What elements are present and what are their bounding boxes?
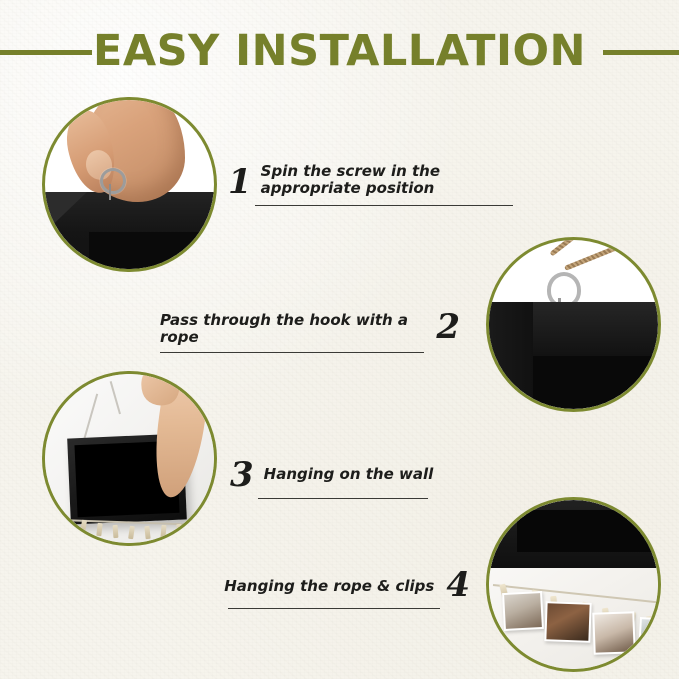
frame-inner-recess: [89, 232, 214, 269]
eye-hook-pin: [109, 184, 111, 200]
step-3-underline: [258, 498, 428, 499]
step-2-underline: [160, 352, 424, 353]
frame-side-wall: [489, 302, 533, 409]
hanging-photo: [502, 591, 544, 631]
step-1-text: Spin the screw in the appropriate positi…: [261, 163, 528, 197]
step-4-underline: [228, 608, 440, 609]
infographic-page: EASY INSTALLATION 1 Spin the screw in th…: [0, 0, 679, 679]
frame-bevel-icon: [489, 500, 517, 532]
step-3-number: 3: [230, 458, 254, 492]
step-3-text: Hanging on the wall: [264, 466, 434, 483]
step-2-text: Pass through the hook with a rope: [160, 312, 426, 346]
photo-thumbnail: [640, 619, 658, 653]
step-4-caption: Hanging the rope & clips 4: [220, 572, 470, 609]
page-title: EASY INSTALLATION: [0, 25, 679, 77]
frame-inner-recess: [517, 510, 658, 552]
step-1-photo-circle: [42, 97, 217, 272]
clothespin-clip: [113, 525, 119, 538]
frame-inner-recess: [533, 356, 658, 409]
step-2-caption: Pass through the hook with a rope 2: [160, 312, 460, 353]
step-1-number: 1: [228, 165, 252, 199]
step-4-photo-circle: [486, 497, 661, 672]
step-2-number: 2: [436, 310, 460, 344]
step-3-caption: 3 Hanging on the wall: [230, 458, 480, 499]
hanging-photo: [638, 617, 658, 655]
photo-thumbnail: [546, 603, 589, 640]
rope-strand-upper: [549, 240, 590, 256]
step-1-underline: [255, 205, 513, 206]
step-4-number: 4: [446, 568, 470, 602]
photo-thumbnail: [594, 613, 633, 652]
photo-thumbnail: [504, 593, 542, 629]
step-2-photo-circle: [486, 237, 661, 412]
hanging-photo: [592, 611, 635, 654]
step-4-image: [489, 500, 658, 669]
step-2-image: [489, 240, 658, 409]
step-4-text: Hanging the rope & clips: [224, 578, 434, 595]
eye-hook-ring-icon: [100, 168, 126, 194]
hanging-photo: [544, 601, 591, 643]
step-1-image: [45, 100, 214, 269]
step-3-photo-circle: [42, 371, 217, 546]
frame-bevel-icon: [45, 192, 87, 238]
step-3-image: [45, 374, 214, 543]
decorative-rule-right-icon: [603, 50, 679, 55]
rope-strand-lower: [564, 240, 651, 271]
step-1-caption: 1 Spin the screw in the appropriate posi…: [228, 163, 528, 206]
